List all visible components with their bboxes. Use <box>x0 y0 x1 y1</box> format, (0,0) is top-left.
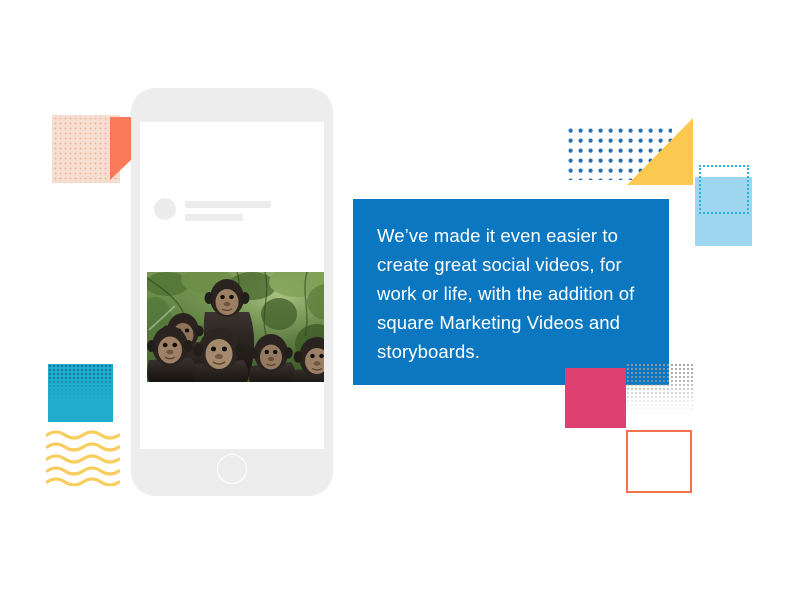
speckle-overlay <box>626 363 694 429</box>
cyan-speckled-square-decoration <box>48 364 113 422</box>
yellow-waves-decoration <box>46 430 120 486</box>
post-photo-chimpanzees <box>147 272 324 382</box>
speckle-overlay <box>48 364 113 422</box>
phone-screen <box>140 122 324 449</box>
phone-mockup <box>131 88 333 496</box>
yellow-triangle-decoration <box>627 118 693 185</box>
post-placeholder-line-primary <box>185 201 271 208</box>
blue-callout-box: We’ve made it even easier to create grea… <box>353 199 669 385</box>
teal-outline-square-decoration <box>699 165 749 214</box>
post-placeholder-lines <box>185 198 271 221</box>
orange-outline-square-decoration <box>626 430 692 493</box>
post-placeholder-line-secondary <box>185 214 243 221</box>
callout-text: We’ve made it even easier to create grea… <box>377 221 651 366</box>
gray-speckled-square-decoration <box>626 363 694 429</box>
pink-square-decoration <box>565 368 626 428</box>
avatar <box>154 198 176 220</box>
slide-canvas: We’ve made it even easier to create grea… <box>0 0 800 600</box>
post-header <box>154 198 271 221</box>
phone-home-button[interactable] <box>217 454 247 484</box>
